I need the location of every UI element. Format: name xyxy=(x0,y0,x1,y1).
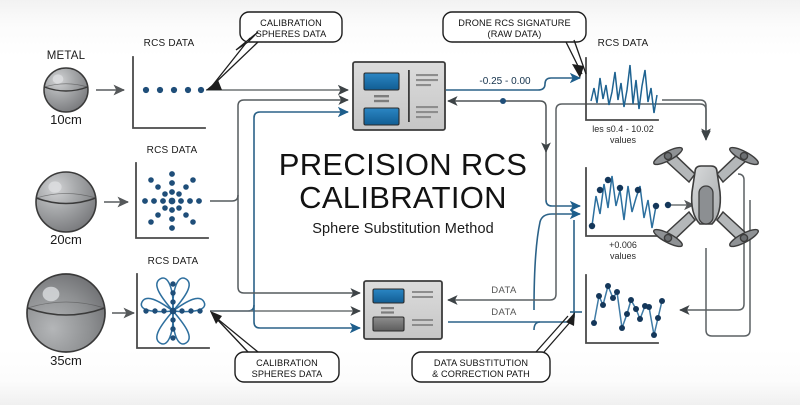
callout-calibration-spheres-bottom-line2: SPHERES DATA xyxy=(235,369,339,380)
return-data-upper-routing xyxy=(550,104,562,300)
callout-drone-rcs-signature-line2: (RAW DATA) xyxy=(443,29,586,40)
callout-data-substitution-line2: & CORRECTION PATH xyxy=(412,369,550,380)
drone-loop-corner xyxy=(738,174,744,180)
callout-data-substitution-line1: DATA SUBSTITUTION xyxy=(412,358,550,369)
junction-dot-offset xyxy=(500,98,506,104)
chart-sphere2-header: RCS DATA xyxy=(136,145,208,156)
chart-raw-signature-note-line2: values xyxy=(575,135,671,145)
chart-raw-signature-note-line1: les s0.4 - 10.02 xyxy=(575,124,671,134)
data-lower-routing xyxy=(568,220,574,322)
feed-loop-to-processor-bottom-lower xyxy=(254,305,360,328)
processor-bottom-graphic[interactable] xyxy=(364,281,442,339)
chart-sphere1-axes xyxy=(133,57,205,128)
sphere-20cm-size-label: 20cm xyxy=(36,233,96,248)
chart-final-signature-line xyxy=(594,286,662,335)
junction-dot-chart2 xyxy=(665,202,671,208)
title-subtitle: Sphere Substitution Method xyxy=(258,221,548,237)
page-title: PRECISION RCS CALIBRATION Sphere Substit… xyxy=(258,148,548,237)
edge-label-data-upper: DATA xyxy=(480,286,528,297)
link-to-chart-corrected-upper xyxy=(546,200,580,206)
callout-calibration-spheres-top-line1: CALIBRATION xyxy=(240,18,342,29)
sphere-10cm-graphic xyxy=(44,68,88,112)
chart-raw-signature-header: RCS DATA xyxy=(586,38,660,49)
data-lower-corner xyxy=(534,322,540,330)
title-line-1: PRECISION RCS xyxy=(258,148,548,181)
sphere-35cm-graphic xyxy=(27,274,105,352)
sphere-20cm-graphic xyxy=(36,172,96,232)
chart-corrected-signature-line xyxy=(592,176,656,228)
diagram-canvas: METAL 10cm 20cm 35cm RCS DATA RCS DATA R… xyxy=(0,0,800,405)
edge-label-offset-range: -0.25 - 0.00 xyxy=(468,76,542,87)
callout-calibration-spheres-top-line2: SPHERES DATA xyxy=(240,29,342,40)
callout-drone-rcs-signature-line1: DRONE RCS SIGNATURE xyxy=(443,18,586,29)
title-line-2: CALIBRATION xyxy=(258,181,548,214)
chart-corrected-signature-note-line1: +0.006 xyxy=(575,240,671,250)
chart-sphere3-header: RCS DATA xyxy=(137,256,209,267)
chart-corrected-signature-note-line2: values xyxy=(575,251,671,261)
chart-raw-signature-line xyxy=(591,65,657,113)
callout-calibration-spheres-bottom-line1: CALIBRATION xyxy=(235,358,339,369)
chart-sphere1-header: RCS DATA xyxy=(133,38,205,49)
edge-label-data-lower: DATA xyxy=(480,308,528,319)
sphere-10cm-material-label: METAL xyxy=(36,50,96,63)
chart-sphere1-points xyxy=(143,87,204,93)
sphere-10cm-size-label: 10cm xyxy=(36,113,96,128)
processor-top-graphic[interactable] xyxy=(353,62,445,130)
sphere-35cm-size-label: 35cm xyxy=(36,354,96,369)
chart-sphere2-points xyxy=(142,171,202,231)
